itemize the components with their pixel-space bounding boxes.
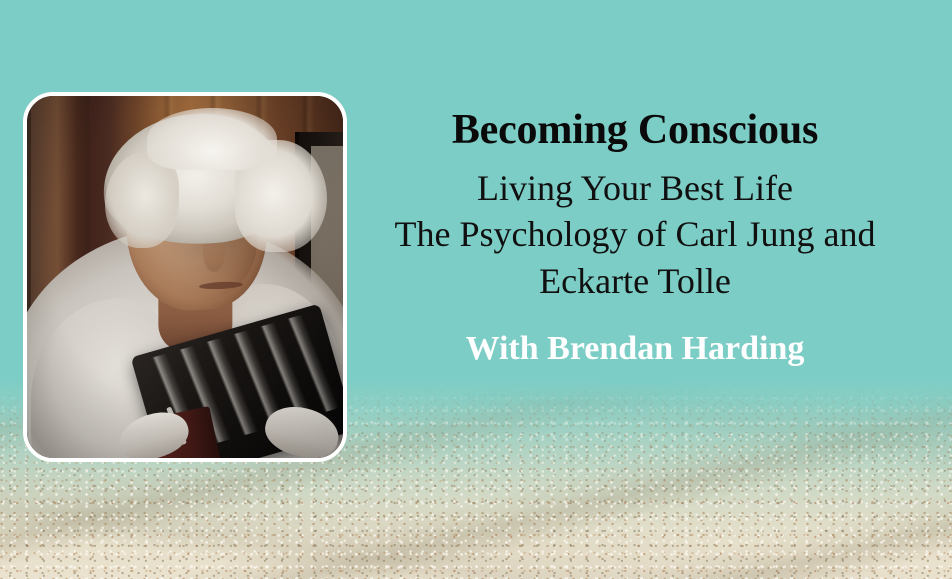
- poster-byline: With Brendan Harding: [375, 330, 895, 367]
- speaker-photo-card: [23, 92, 347, 462]
- poster-canvas: Becoming Conscious Living Your Best Life…: [0, 0, 952, 579]
- poster-title: Becoming Conscious: [375, 108, 895, 153]
- speaker-photo: [27, 96, 343, 458]
- white-hair-top: [147, 108, 277, 170]
- poster-subtitle: Living Your Best Life The Psychology of …: [375, 165, 895, 303]
- poster-text-block: Becoming Conscious Living Your Best Life…: [375, 108, 895, 367]
